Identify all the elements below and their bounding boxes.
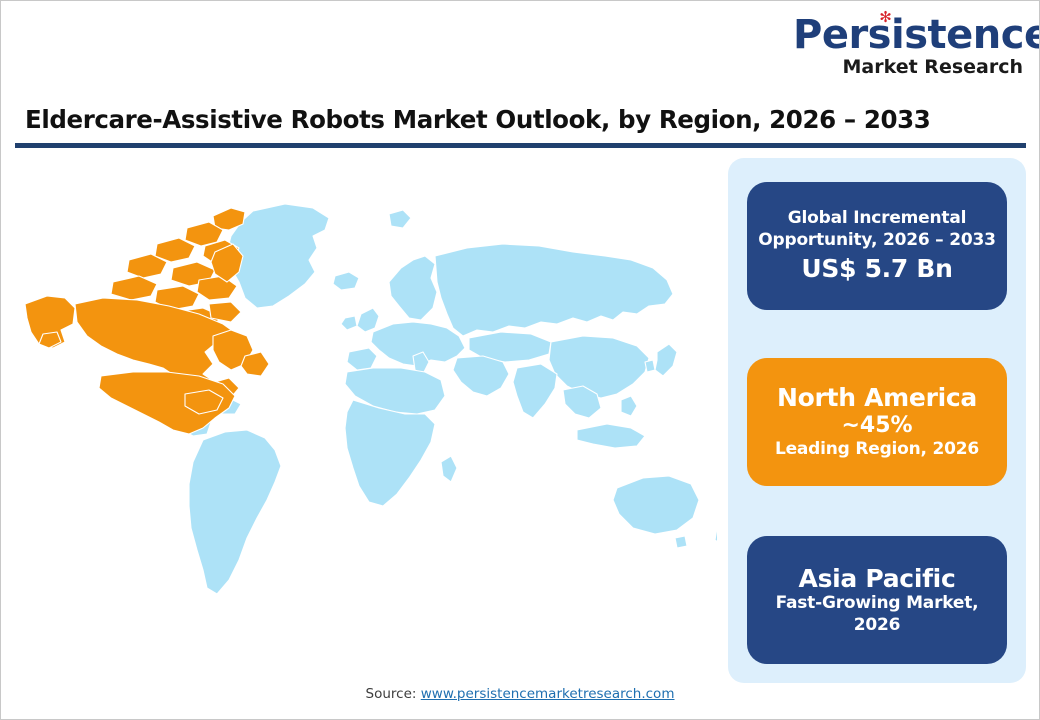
card-3-role: Fast-Growing Market, [776, 593, 979, 615]
map-region-iberia [347, 348, 377, 370]
card-1-value: US$ 5.7 Bn [801, 254, 952, 284]
brand-tagline: Market Research [793, 58, 1023, 77]
star-icon: ✻ [879, 11, 892, 24]
stats-panel: Global Incremental Opportunity, 2026 – 2… [728, 158, 1026, 683]
map-region-tasmania [675, 536, 687, 548]
map-region-africa [345, 400, 435, 506]
map-region-madagascar [441, 456, 457, 482]
world-map [17, 156, 717, 671]
brand-name: Persistence [793, 15, 1040, 55]
card-2-region: North America [777, 383, 977, 413]
card-3-region: Asia Pacific [799, 564, 956, 594]
card-3-year: 2026 [854, 615, 901, 637]
page-title: Eldercare-Assistive Robots Market Outloo… [25, 105, 930, 134]
infographic-page: Persistence ✻ Market Research Eldercare-… [0, 0, 1040, 720]
card-2-role: Leading Region, 2026 [775, 439, 979, 461]
map-region-ireland [341, 316, 357, 330]
map-region-south-america [189, 430, 281, 594]
card-global-incremental-opportunity[interactable]: Global Incremental Opportunity, 2026 – 2… [747, 182, 1007, 310]
source-label: Source: [366, 686, 417, 702]
map-region-japan [655, 344, 677, 376]
title-divider [15, 143, 1026, 148]
map-region-new-zealand [715, 524, 717, 546]
map-region-india [513, 364, 557, 418]
map-region-australia [613, 476, 699, 534]
card-2-share: ~45% [841, 413, 912, 439]
brand-logo: Persistence ✻ Market Research [793, 15, 1023, 77]
map-region-china [549, 336, 649, 398]
map-region-iceland [333, 272, 359, 290]
map-region-svalbard [389, 210, 411, 228]
map-region-korea [645, 360, 655, 372]
card-fast-growing-market[interactable]: Asia Pacific Fast-Growing Market, 2026 [747, 536, 1007, 664]
source-line: Source: www.persistencemarketresearch.co… [1, 686, 1039, 702]
map-region-philippines [621, 396, 637, 416]
map-region-russia [435, 244, 673, 336]
map-region-indonesia [577, 424, 645, 448]
map-region-scandinavia [389, 256, 437, 320]
map-region-middle-east [453, 356, 509, 396]
map-region-british-isles [357, 308, 379, 332]
card-leading-region[interactable]: North America ~45% Leading Region, 2026 [747, 358, 1007, 486]
source-link[interactable]: www.persistencemarketresearch.com [421, 686, 675, 702]
card-1-line-2: Opportunity, 2026 – 2033 [758, 230, 995, 252]
card-1-line-1: Global Incremental [788, 208, 966, 230]
